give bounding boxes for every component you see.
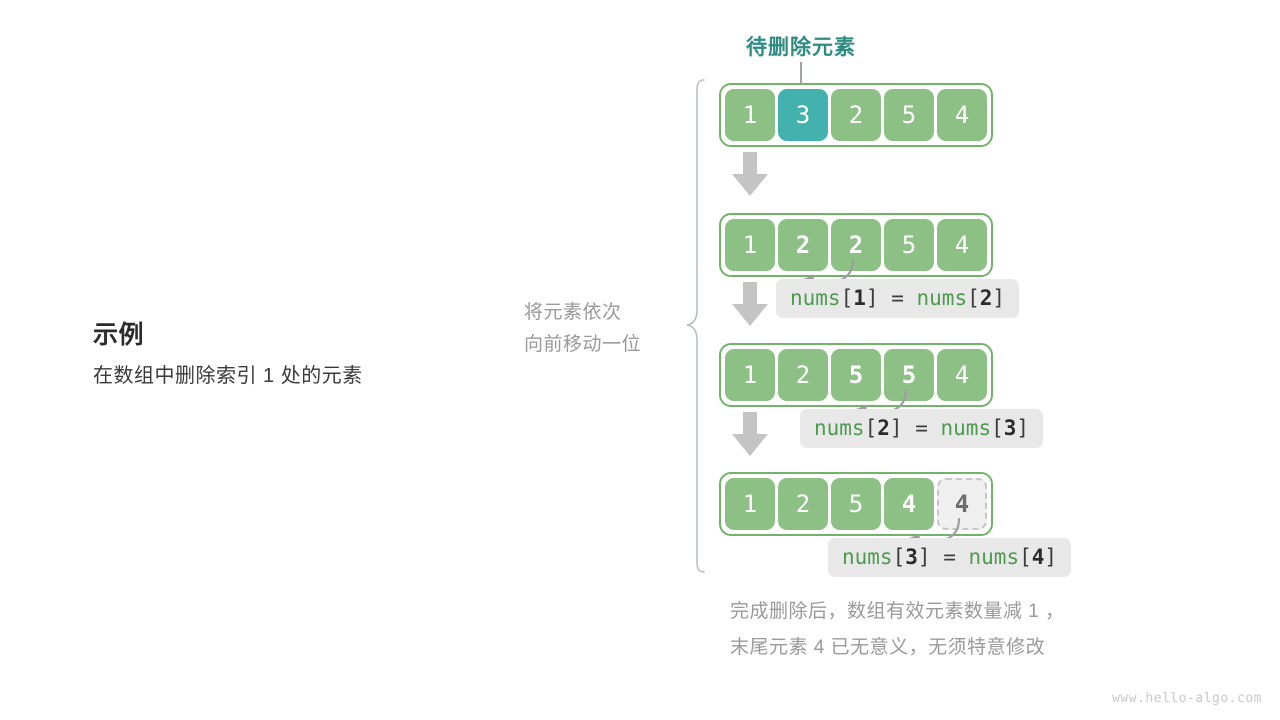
initial-array: 1 3 2 5 4 xyxy=(719,83,993,147)
example-subtitle: 在数组中删除索引 1 处的元素 xyxy=(93,360,523,392)
assignment-3: nums[3] = nums[4] xyxy=(828,538,1071,577)
result-caption: 完成删除后，数组有效元素数量减 1 ， 末尾元素 4 已无意义，无须特意修改 xyxy=(730,594,1250,666)
assignment-1: nums[1] = nums[2] xyxy=(776,279,1019,318)
code-bracket-open: [ xyxy=(841,286,854,310)
code-identifier: nums xyxy=(790,286,841,310)
delete-target-label: 待删除元素 xyxy=(716,31,886,61)
array-cell: 2 xyxy=(831,89,881,141)
code-bracket-close: ] xyxy=(992,286,1005,310)
code-bracket-open: [ xyxy=(967,286,980,310)
array-cell-highlighted: 3 xyxy=(778,89,828,141)
code-bracket-close: ] xyxy=(1016,416,1029,440)
code-bracket-open: [ xyxy=(893,545,906,569)
code-bracket-open: [ xyxy=(1019,545,1032,569)
code-bracket-close: ] xyxy=(918,545,931,569)
grouping-brace xyxy=(680,78,710,583)
code-index: 3 xyxy=(905,545,918,569)
code-operator: = xyxy=(891,286,904,310)
code-identifier: nums xyxy=(969,545,1020,569)
code-index: 3 xyxy=(1004,416,1017,440)
site-watermark: www.hello-algo.com xyxy=(1112,691,1262,706)
code-bracket-open: [ xyxy=(865,416,878,440)
code-operator: = xyxy=(915,416,928,440)
array-cell: 1 xyxy=(725,219,775,271)
result-caption-line2: 末尾元素 4 已无意义，无须特意修改 xyxy=(730,630,1250,666)
array-cell: 1 xyxy=(725,89,775,141)
code-index: 1 xyxy=(853,286,866,310)
code-bracket-open: [ xyxy=(991,416,1004,440)
array-cell: 5 xyxy=(884,89,934,141)
code-identifier: nums xyxy=(814,416,865,440)
code-bracket-close: ] xyxy=(866,286,879,310)
array-cell: 5 xyxy=(884,219,934,271)
assignment-2: nums[2] = nums[3] xyxy=(800,409,1043,448)
code-identifier: nums xyxy=(941,416,992,440)
array-cell: 4 xyxy=(937,89,987,141)
shift-annotation: 将元素依次 向前移动一位 xyxy=(524,297,684,361)
array-cell: 2 xyxy=(778,478,828,530)
array-cell: 1 xyxy=(725,478,775,530)
code-index: 4 xyxy=(1032,545,1045,569)
array-cell: 5 xyxy=(831,478,881,530)
array-cell: 2 xyxy=(778,349,828,401)
array-cell: 4 xyxy=(937,349,987,401)
array-cell: 4 xyxy=(937,219,987,271)
example-description: 示例 在数组中删除索引 1 处的元素 xyxy=(93,318,523,392)
code-identifier: nums xyxy=(917,286,968,310)
diagram-canvas: 示例 在数组中删除索引 1 处的元素 将元素依次 向前移动一位 待删除元素 1 … xyxy=(0,0,1280,720)
code-identifier: nums xyxy=(842,545,893,569)
code-bracket-close: ] xyxy=(890,416,903,440)
down-arrow-icon xyxy=(730,412,770,463)
code-operator: = xyxy=(943,545,956,569)
shift-annotation-line1: 将元素依次 xyxy=(524,297,684,329)
down-arrow-icon xyxy=(730,152,770,203)
example-title: 示例 xyxy=(93,318,523,352)
result-caption-line1: 完成删除后，数组有效元素数量减 1 ， xyxy=(730,594,1250,630)
code-index: 2 xyxy=(877,416,890,440)
code-index: 2 xyxy=(980,286,993,310)
down-arrow-icon xyxy=(730,282,770,333)
code-bracket-close: ] xyxy=(1044,545,1057,569)
shift-annotation-line2: 向前移动一位 xyxy=(524,329,684,361)
array-cell: 1 xyxy=(725,349,775,401)
